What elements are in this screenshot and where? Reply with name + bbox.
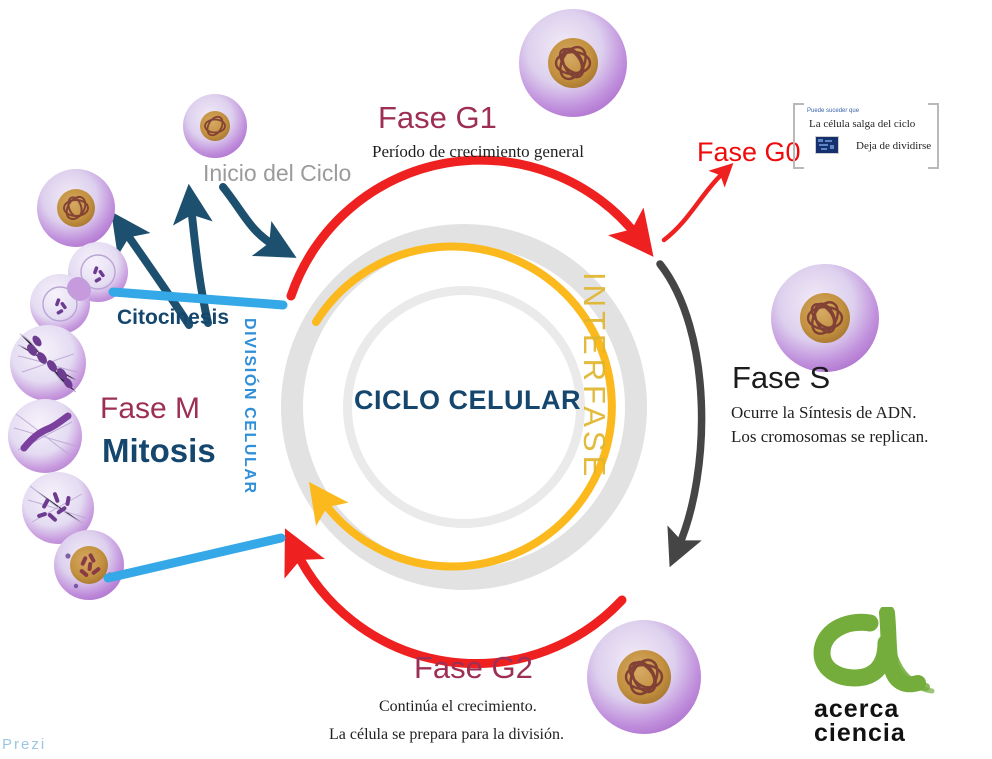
arrow-s-phase [660, 264, 702, 548]
page-title: CICLO CELULAR [330, 385, 605, 416]
label-interfase: INTERFASE [576, 272, 612, 512]
label-inicio-del-ciclo: Inicio del Ciclo [203, 160, 351, 187]
bracket-right-icon [928, 103, 939, 169]
cell-daughter [37, 169, 115, 247]
phase-subtitle-mitosis: Mitosis [102, 432, 216, 470]
g0-info-box: Puede suceder que La célula salga del ci… [793, 103, 939, 165]
phase-desc-g2-line1: Continúa el crecimiento. [379, 698, 537, 716]
phase-title-m: Fase M [100, 392, 200, 426]
cell-telophase [10, 325, 86, 401]
cell-s [771, 264, 879, 372]
cell-anaphase [8, 399, 82, 473]
g0-line-1: La célula salga del ciclo [809, 118, 915, 130]
phase-desc-g1: Período de crecimiento general [372, 142, 584, 162]
logo-brush-a-icon [808, 607, 972, 697]
phase-title-g0: Fase G0 [697, 137, 801, 168]
phase-desc-g2-line2: La célula se prepara para la división. [329, 726, 564, 744]
prezi-watermark: Prezi [2, 736, 46, 753]
connector-cytokinesis [113, 292, 283, 305]
arrow-to-g0 [664, 172, 724, 240]
label-division-celular: DIVISIÓN CELULAR [240, 318, 258, 533]
cell-cycle-diagram: CICLO CELULAR INTERFASE DIVISIÓN CELULAR… [0, 0, 992, 759]
g0-line-2: Deja de dividirse [856, 140, 931, 152]
connector-mitosis [108, 538, 281, 578]
bracket-left-icon [793, 103, 804, 169]
phase-title-s: Fase S [732, 360, 830, 396]
cell-start [183, 94, 247, 158]
acerca-ciencia-logo: acerca ciencia [808, 607, 972, 747]
arrow-inicio-del-ciclo [223, 187, 277, 247]
label-citocinesis: Citocinesis [117, 306, 229, 330]
cell-g2 [587, 620, 701, 734]
phase-title-g1: Fase G1 [378, 100, 497, 136]
g0-thumbnail-image [815, 136, 839, 154]
cell-g1 [519, 9, 627, 117]
phase-desc-s-line2: Los cromosomas se replican. [731, 427, 928, 447]
phase-title-g2: Fase G2 [414, 650, 533, 686]
g0-note: Puede suceder que [807, 108, 859, 114]
phase-desc-s-line1: Ocurre la Síntesis de ADN. [731, 403, 917, 423]
logo-text-ciencia: ciencia [814, 719, 906, 748]
cell-prophase [54, 530, 124, 600]
